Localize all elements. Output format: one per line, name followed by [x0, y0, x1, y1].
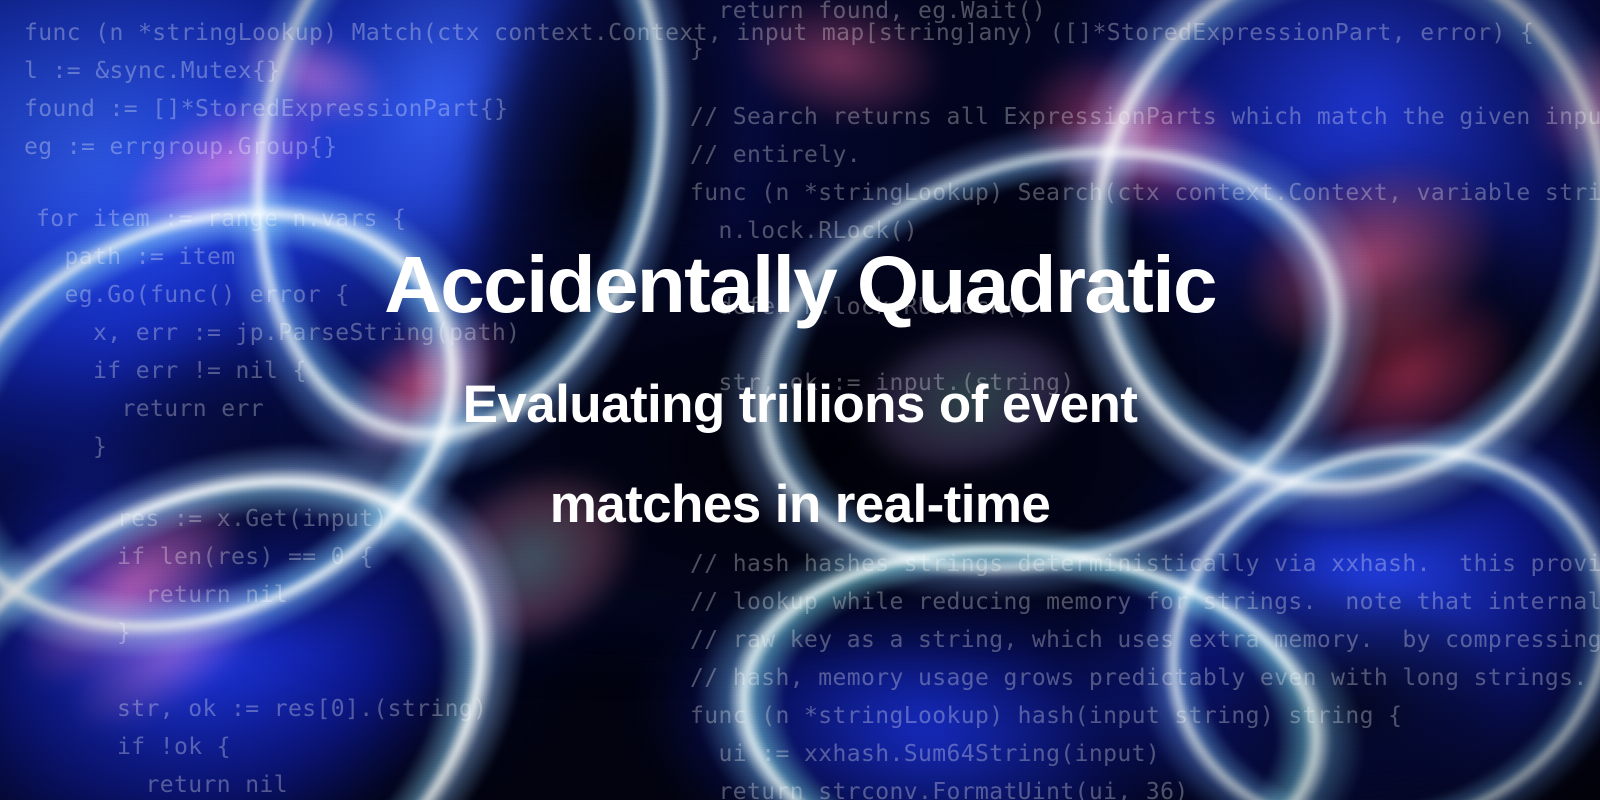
page-title: Accidentally Quadratic: [384, 245, 1216, 325]
hero-banner: func (n *stringLookup) Match(ctx context…: [0, 0, 1600, 800]
hero-subtitle-line-2: matches in real-time: [463, 455, 1138, 555]
hero-subtitle-line-1: Evaluating trillions of event: [463, 355, 1138, 455]
hero-content: Accidentally Quadratic Evaluating trilli…: [0, 0, 1600, 800]
hero-subtitle: Evaluating trillions of event matches in…: [463, 355, 1138, 554]
